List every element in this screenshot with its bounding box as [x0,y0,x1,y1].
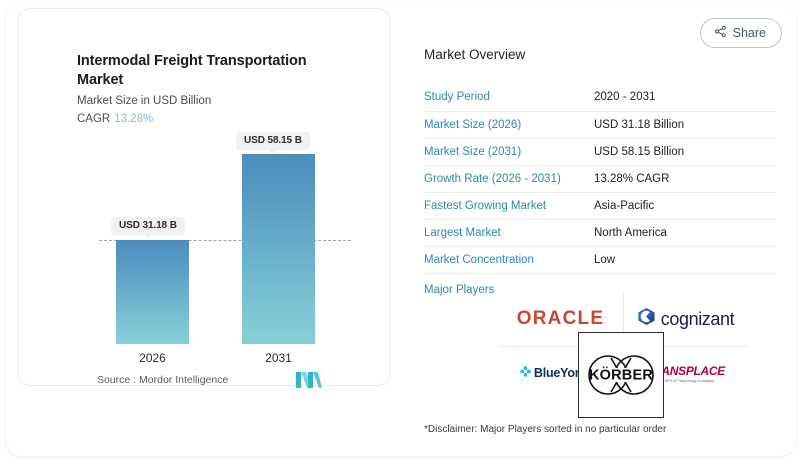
row-key: Largest Market [424,219,594,246]
chart-card: Intermodal Freight Transportation Market… [18,8,390,386]
korber-mark-icon: KÖRBER [581,349,661,401]
table-row: Market Concentration Low [424,246,776,273]
cagr-value: 13.28% [114,113,153,125]
overview-title: Market Overview [424,47,525,62]
table-row: Growth Rate (2026 - 2031) 13.28% CAGR [424,165,776,192]
screenshot-root: Intermodal Freight Transportation Market… [0,0,800,459]
player-logo-korber: KÖRBER [578,332,664,418]
bar-value-label-2031: USD 58.15 B [236,132,310,150]
oracle-logo-text: ORACLE [517,308,604,330]
table-row: Market Size (2026) USD 31.18 Billion [424,111,776,138]
table-row: Market Size (2031) USD 58.15 Billion [424,138,776,165]
row-key: Market Size (2026) [424,111,594,138]
chart-subtitle: Market Size in USD Billion [77,95,211,107]
table-row: Fastest Growing Market Asia-Pacific [424,192,776,219]
mordor-intelligence-logo [296,371,322,388]
blueyonder-clover-icon [520,364,531,382]
row-value: North America [594,219,776,246]
bar-value-label-2026: USD 31.18 B [111,217,185,235]
major-players-label: Major Players [424,284,494,296]
row-key: Market Concentration [424,246,594,273]
row-key: Study Period [424,84,594,111]
row-key: Market Size (2031) [424,138,594,165]
share-icon [714,25,727,41]
row-key: Growth Rate (2026 - 2031) [424,165,594,192]
x-tick-2031: 2031 [242,351,315,365]
row-value: 13.28% CAGR [594,165,776,192]
bar-2026[interactable] [116,240,189,344]
table-row: Study Period 2020 - 2031 [424,84,776,111]
bar-2031[interactable] [242,154,315,344]
row-value: Asia-Pacific [594,192,776,219]
row-value: Low [594,246,776,273]
disclaimer-text: *Disclaimer: Major Players sorted in no … [424,424,666,435]
cognizant-wrap: cognizant [637,307,734,331]
row-value: 2020 - 2031 [594,84,776,111]
cognizant-mark-icon [637,307,656,331]
table-row: Largest Market North America [424,219,776,246]
row-key: Fastest Growing Market [424,192,594,219]
x-tick-2026: 2026 [116,351,189,365]
row-value: USD 31.18 Billion [594,111,776,138]
row-value: USD 58.15 Billion [594,138,776,165]
svg-text:KÖRBER: KÖRBER [589,367,653,384]
share-button[interactable]: Share [700,18,782,48]
chart-source: Source : Mordor Intelligence [97,374,228,386]
chart-title: Intermodal Freight Transportation Market [77,52,327,90]
cagr-label: CAGR [77,113,110,125]
cognizant-logo-text: cognizant [661,309,734,330]
cagr-row: CAGR13.28% [77,113,153,125]
market-overview-table: Study Period 2020 - 2031 Market Size (20… [424,84,776,274]
bar-chart-plot: USD 31.18 B USD 58.15 B 2026 2031 [37,129,373,344]
share-button-label: Share [733,26,766,40]
